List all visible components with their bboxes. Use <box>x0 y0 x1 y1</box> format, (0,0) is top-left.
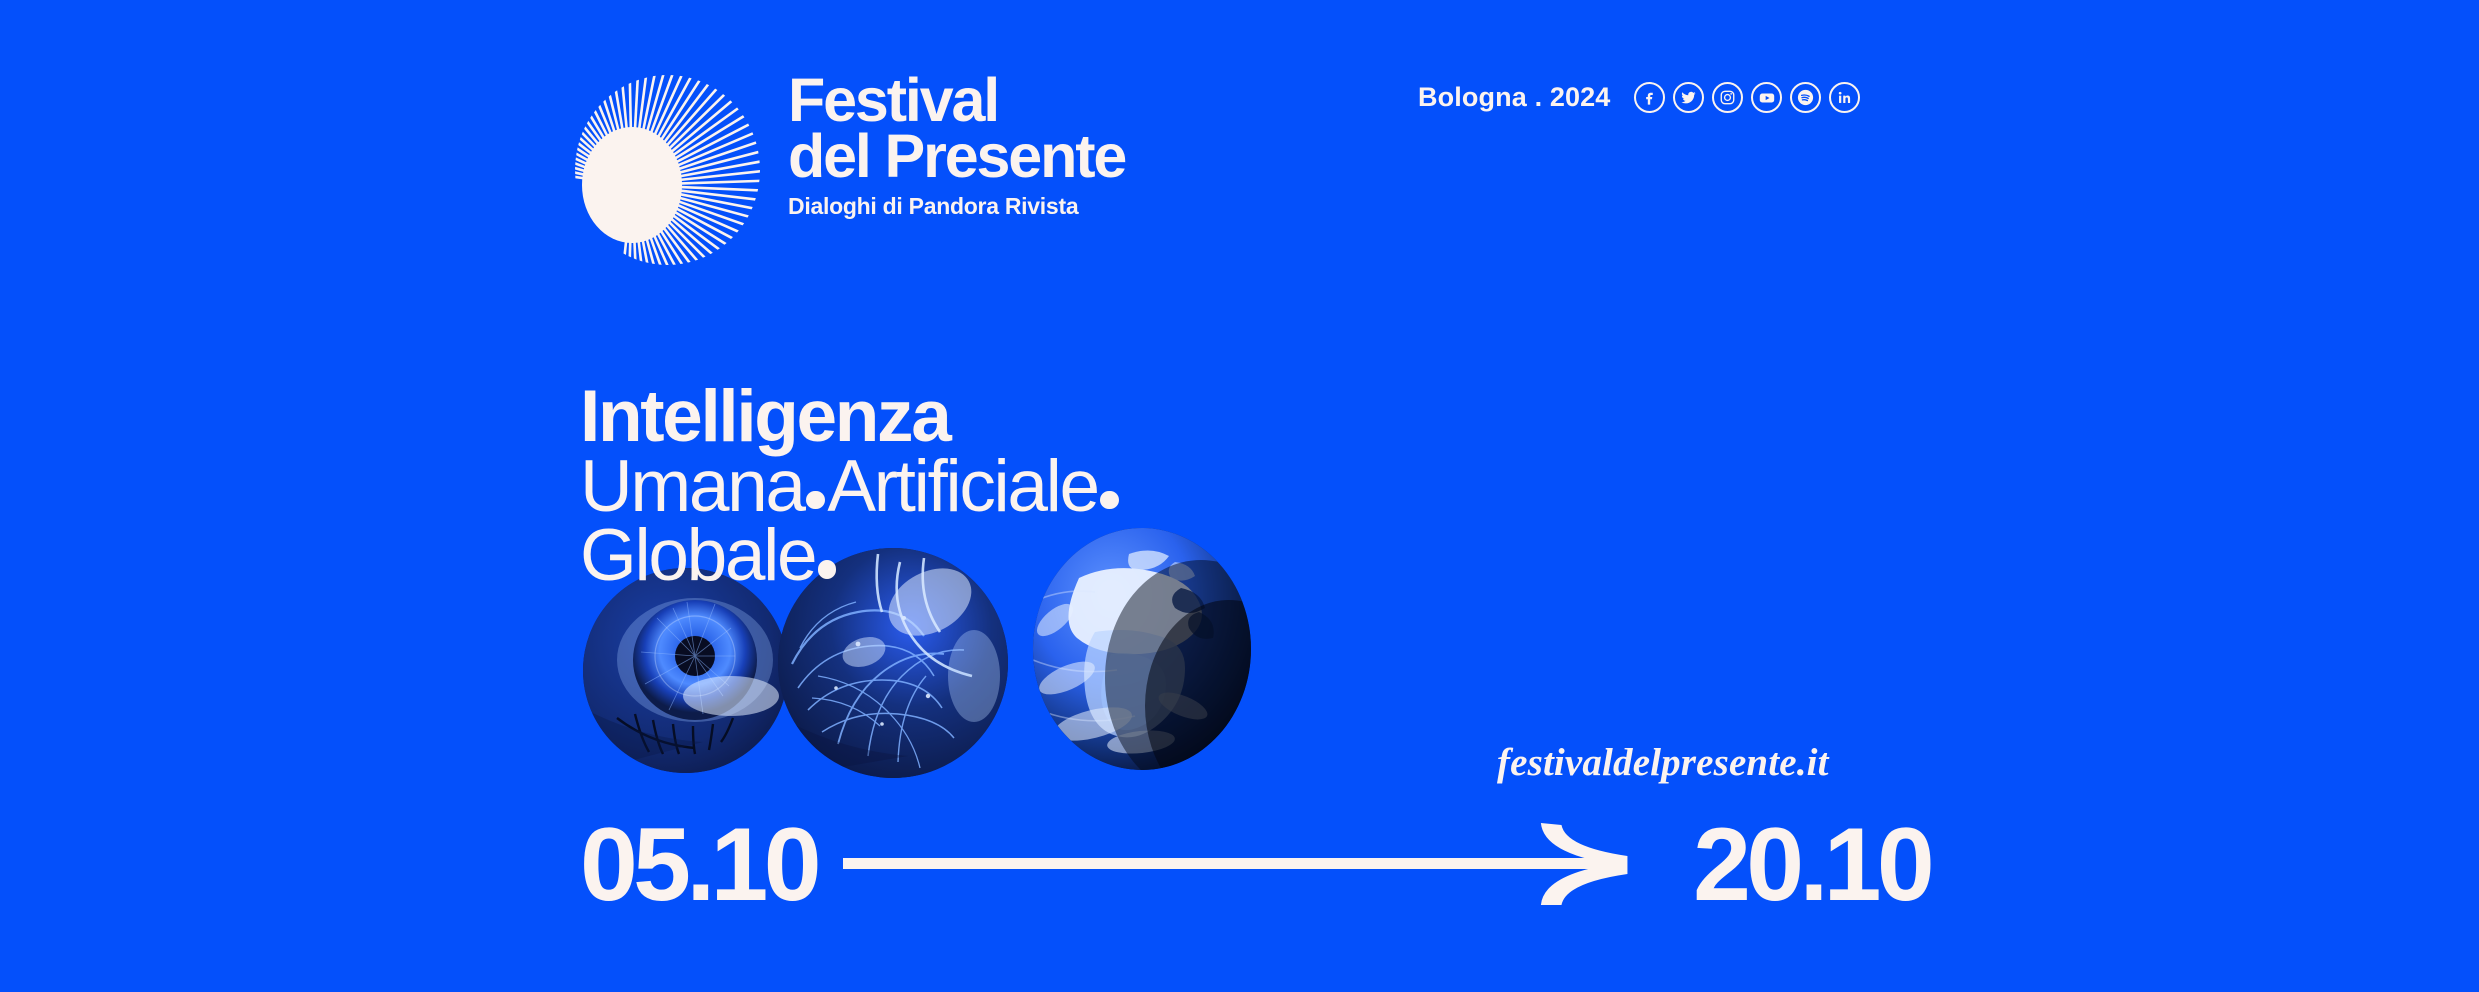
website-url[interactable]: festivaldelpresente.it <box>1497 740 1829 785</box>
headline-artificiale: Artificiale <box>827 446 1097 527</box>
long-arrow-right-icon <box>843 817 1667 913</box>
headline-line-2: UmanaArtificiale <box>580 452 1340 522</box>
date-end: 20.10 <box>1693 813 1930 917</box>
date-range: 05.10 20.10 <box>580 806 1930 924</box>
human-eye-circle <box>583 568 788 773</box>
date-start: 05.10 <box>580 813 817 917</box>
dot-separator-icon <box>818 560 837 579</box>
dot-separator-icon <box>806 491 825 510</box>
headline-globale: Globale <box>580 515 815 596</box>
festival-poster: Festival del Presente Dialoghi di Pandor… <box>0 0 2479 992</box>
headline-line-1: Intelligenza <box>580 382 1340 452</box>
headline-line-3: Globale <box>580 521 1340 591</box>
headline: Intelligenza UmanaArtificiale Globale <box>580 382 1340 591</box>
dot-separator-icon <box>1100 491 1119 510</box>
